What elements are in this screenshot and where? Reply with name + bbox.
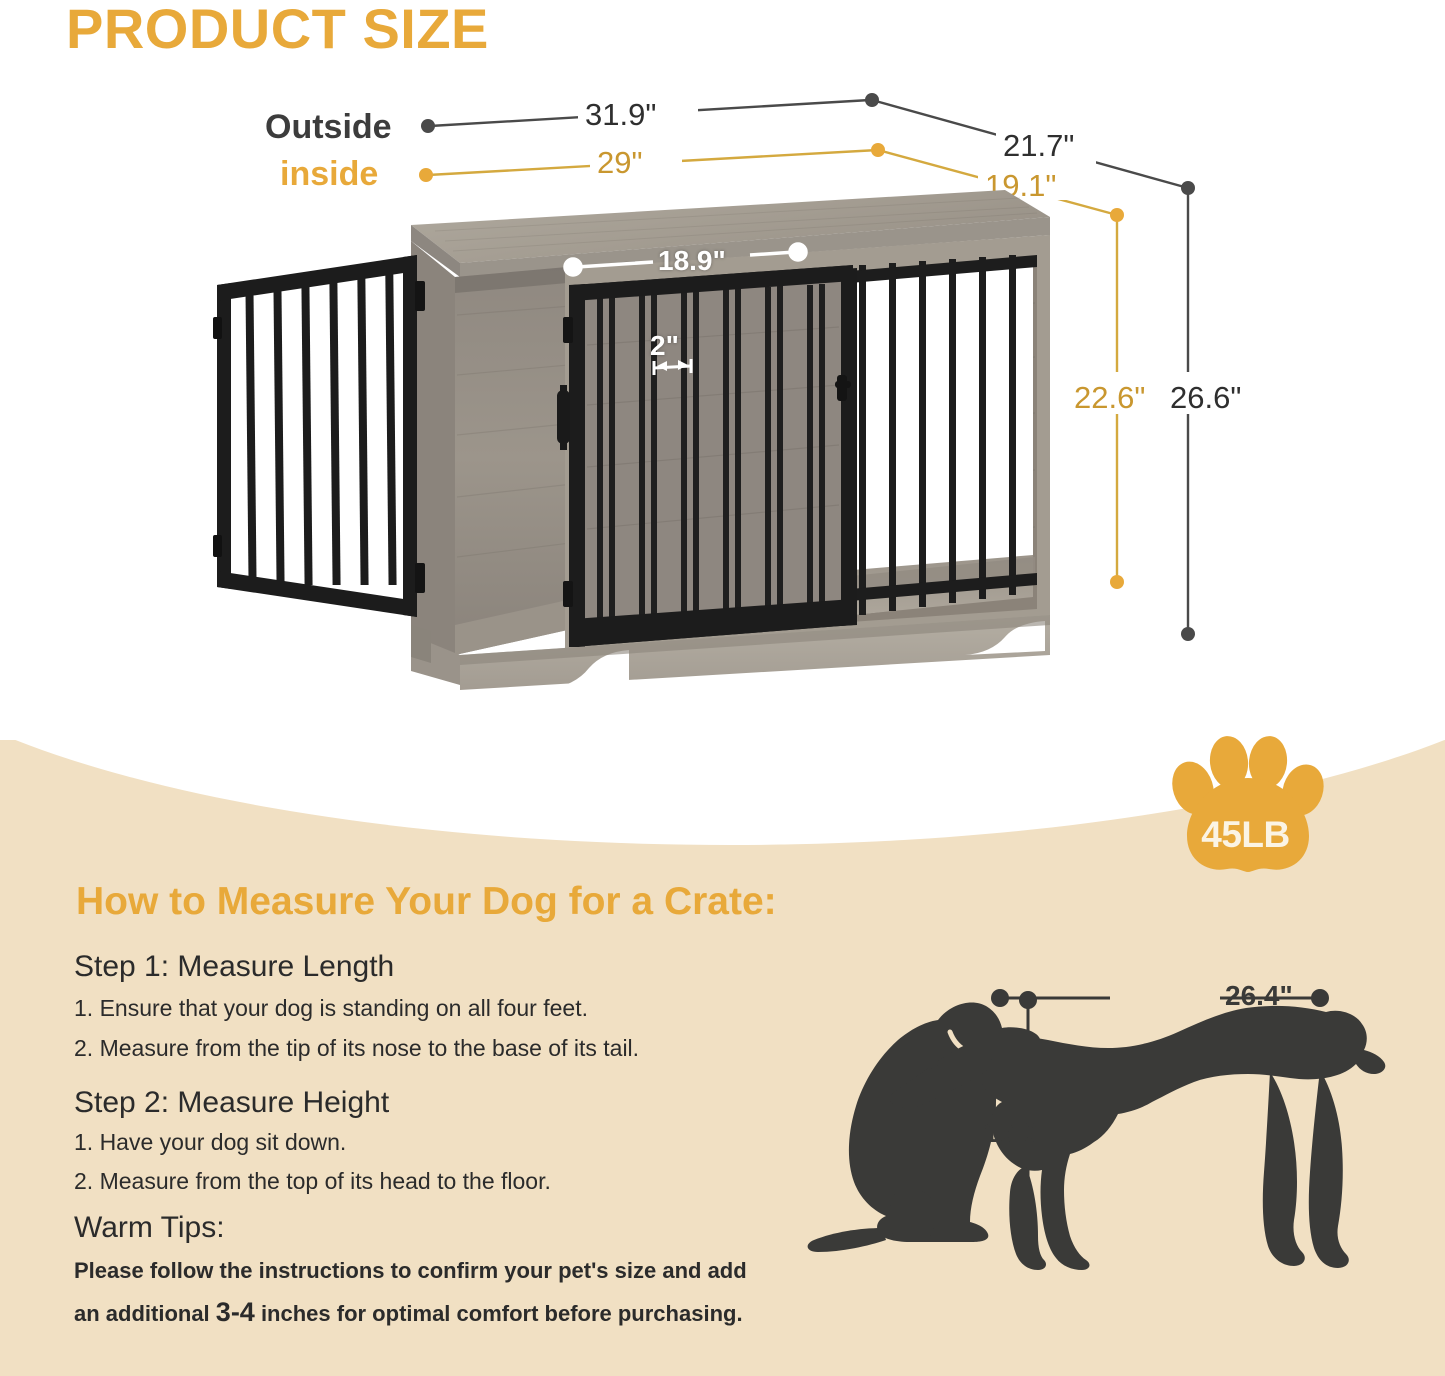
page-title: PRODUCT SIZE: [66, 0, 489, 61]
dimension-outside-depth: 21.7": [1003, 128, 1074, 164]
warm-tips-title: Warm Tips:: [74, 1211, 225, 1245]
warm-tips-line-1: Please follow the instructions to confir…: [74, 1258, 747, 1284]
step-1-line-1: 1. Ensure that your dog is standing on a…: [74, 995, 588, 1022]
dog-crate-product-image: [205, 185, 1055, 705]
step-1-title: Step 1: Measure Length: [74, 950, 394, 984]
outside-legend-label: Outside: [265, 108, 392, 147]
dimension-outside-width: 31.9": [585, 97, 656, 133]
dog-measurement-diagram: [790, 960, 1430, 1300]
dimension-outside-height: 26.6": [1170, 380, 1241, 416]
dimension-bar-spacing: 2": [650, 330, 679, 362]
weight-capacity-badge: 45LB: [1163, 736, 1328, 876]
warm-tips-line-2-prefix: an additional: [74, 1301, 216, 1326]
dimension-door-opening-width: 18.9": [658, 245, 726, 277]
infographic-canvas: PRODUCT SIZE Outside inside 31.9" 29" 21…: [0, 0, 1445, 1376]
instructions-heading: How to Measure Your Dog for a Crate:: [76, 880, 777, 924]
dimension-inside-height: 22.6": [1074, 380, 1145, 416]
weight-capacity-label: 45LB: [1163, 814, 1328, 856]
step-1-line-2: 2. Measure from the tip of its nose to t…: [74, 1035, 639, 1062]
step-2-line-1: 1. Have your dog sit down.: [74, 1129, 346, 1156]
dimension-inside-width: 29": [597, 145, 643, 181]
warm-tips-emphasis: 3-4: [216, 1297, 255, 1327]
warm-tips-line-2: an additional 3-4 inches for optimal com…: [74, 1297, 743, 1328]
dog-length-label: 26.4": [1225, 980, 1293, 1012]
step-2-line-2: 2. Measure from the top of its head to t…: [74, 1168, 551, 1195]
warm-tips-line-2-suffix: inches for optimal comfort before purcha…: [255, 1301, 743, 1326]
dog-height-label: 19.6": [983, 1117, 1051, 1149]
step-2-title: Step 2: Measure Height: [74, 1086, 389, 1120]
